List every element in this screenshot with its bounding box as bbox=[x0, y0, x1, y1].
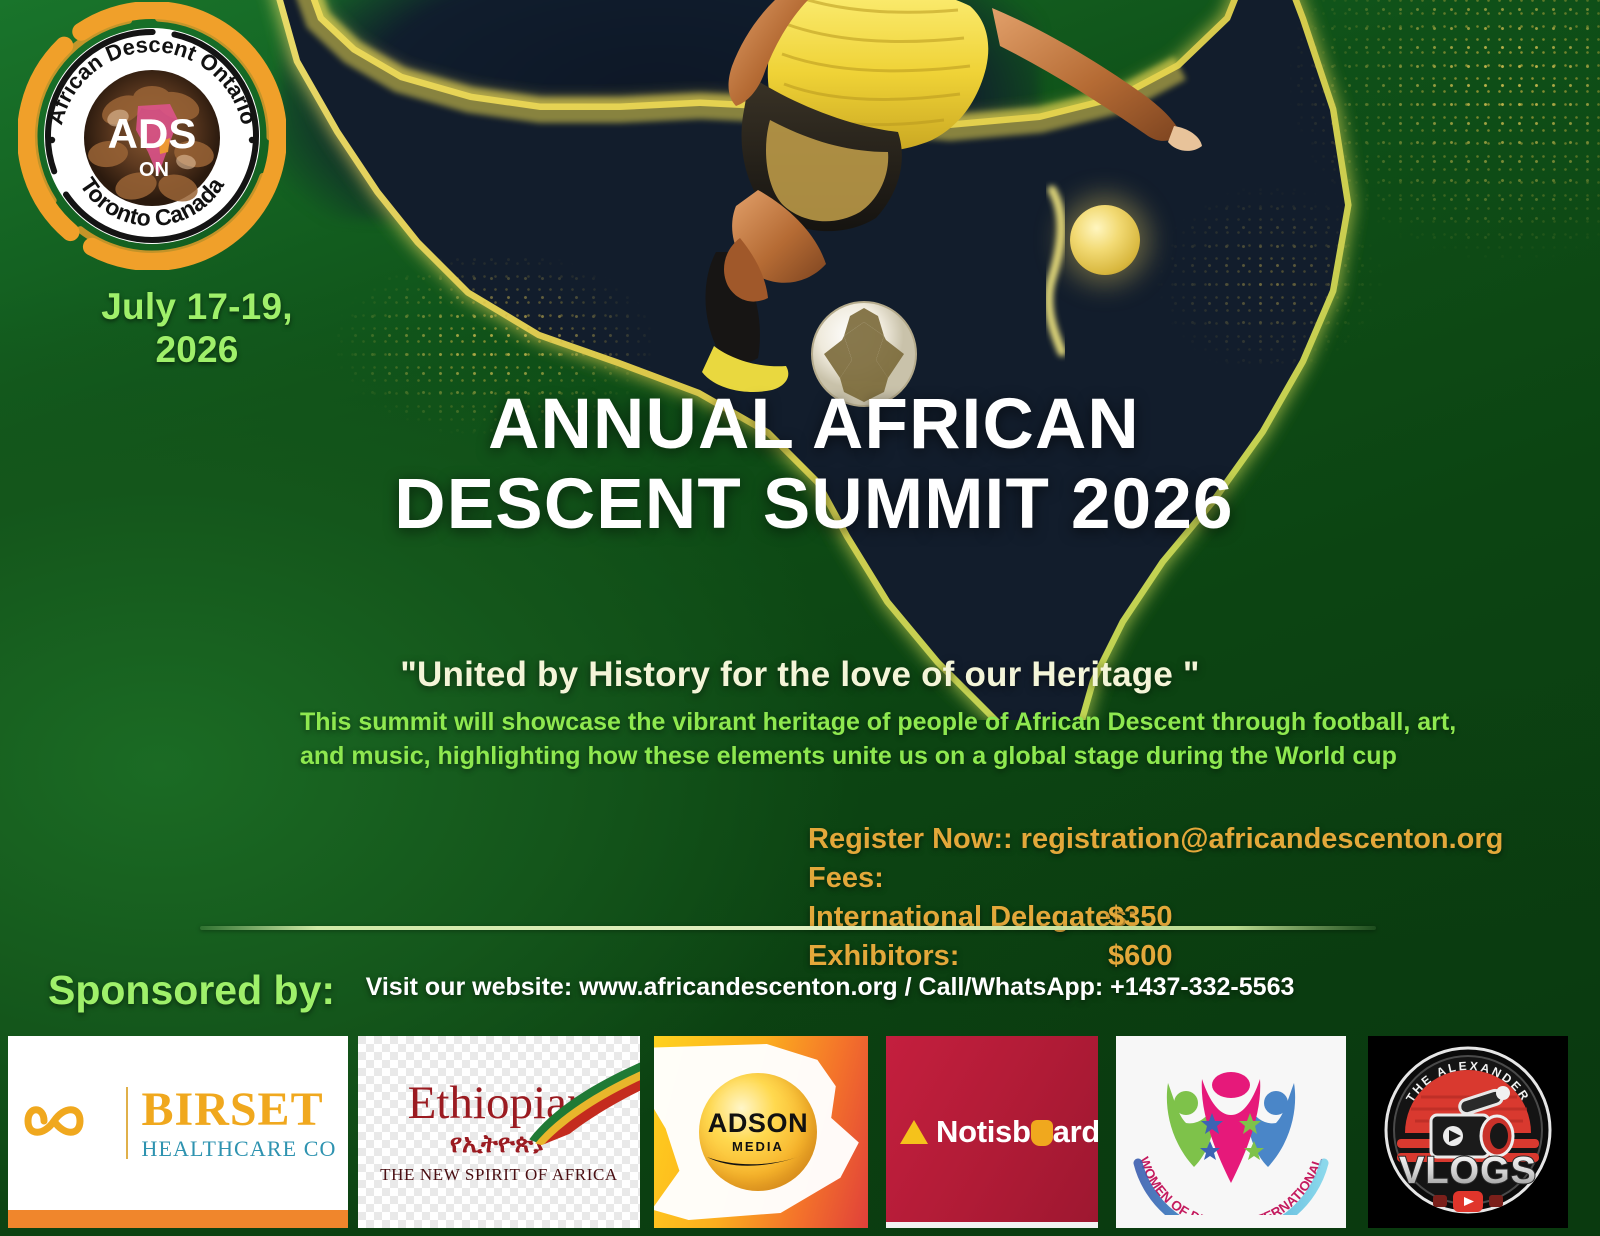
adson-name: ADSON bbox=[708, 1110, 809, 1137]
event-date-line-1: July 17-19, bbox=[82, 286, 312, 329]
adson-swoosh-icon bbox=[707, 1153, 807, 1169]
fee-value-exhibitors: $600 bbox=[1108, 937, 1173, 976]
event-date: July 17-19, 2026 bbox=[82, 286, 312, 372]
video-camera-badge-icon: VLOGS THE ALEXANDER bbox=[1375, 1037, 1561, 1228]
organization-logo[interactable]: ADS ON African Descent Ontario Toronto C… bbox=[18, 2, 286, 270]
sponsor-logo-adson-media[interactable]: ADSON MEDIA bbox=[654, 1036, 868, 1228]
logo-initials-sub: ON bbox=[139, 159, 169, 181]
fee-row-international: International Delegates: $350 bbox=[808, 898, 1503, 937]
sponsor-logo-birset[interactable]: BIRSET HEALTHCARE CO bbox=[8, 1036, 348, 1228]
birset-name: BIRSET bbox=[142, 1086, 337, 1134]
footballer-illustration bbox=[640, 0, 1280, 400]
notisboard-name-head: Notisb bbox=[936, 1114, 1031, 1149]
fees-label: Fees: bbox=[808, 859, 1503, 898]
warning-triangle-icon bbox=[900, 1120, 928, 1144]
fee-label-exhibitors: Exhibitors: bbox=[808, 937, 1108, 976]
infinity-icon bbox=[20, 1090, 112, 1157]
notisboard-o-icon bbox=[1031, 1120, 1053, 1146]
fee-value-international: $350 bbox=[1108, 898, 1173, 937]
poster-root: ADS ON African Descent Ontario Toronto C… bbox=[0, 0, 1600, 1236]
description-line-2: and music, highlighting how these elemen… bbox=[300, 739, 1300, 773]
ethiopian-tagline: THE NEW SPIRIT OF AFRICA bbox=[380, 1165, 618, 1185]
event-description: This summit will showcase the vibrant he… bbox=[300, 705, 1300, 773]
vlogs-wordmark: VLOGS bbox=[1399, 1150, 1537, 1192]
notisboard-name-tail: ard.com bbox=[1053, 1114, 1098, 1149]
birset-divider bbox=[126, 1087, 128, 1159]
sponsor-logo-alexander-vlogs[interactable]: VLOGS THE ALEXANDER bbox=[1368, 1036, 1568, 1228]
event-tagline: "United by History for the love of our H… bbox=[0, 655, 1600, 695]
sponsor-logo-strip: BIRSET HEALTHCARE CO Ethiopian የኢትዮጵያ TH… bbox=[0, 1036, 1600, 1236]
notisboard-bottom-bar bbox=[886, 1222, 1098, 1228]
registration-info: Register Now:: registration@africandesce… bbox=[808, 820, 1503, 977]
notisboard-name: Notisbard.com bbox=[936, 1114, 1098, 1150]
birset-subtitle: HEALTHCARE CO bbox=[142, 1138, 337, 1160]
sponsor-logo-ethiopian[interactable]: Ethiopian የኢትዮጵያ THE NEW SPIRIT OF AFRIC… bbox=[358, 1036, 640, 1228]
logo-initials: ADS bbox=[108, 110, 197, 157]
sponsors-heading: Sponsored by: bbox=[48, 967, 335, 1014]
three-figures-icon: WOMEN OF DIGNITY INTERNATIONAL bbox=[1124, 1045, 1338, 1220]
description-line-1: This summit will showcase the vibrant he… bbox=[300, 705, 1300, 739]
sponsor-logo-notisboard[interactable]: Notisbard.com bbox=[886, 1036, 1098, 1228]
title-line-2: DESCENT SUMMIT 2026 bbox=[0, 465, 1600, 545]
fee-row-exhibitors: Exhibitors: $600 bbox=[808, 937, 1503, 976]
birset-bottom-bar bbox=[8, 1210, 348, 1228]
event-date-line-2: 2026 bbox=[82, 329, 312, 372]
fee-label-international: International Delegates: bbox=[808, 898, 1108, 937]
sponsor-logo-women-of-dignity[interactable]: WOMEN OF DIGNITY INTERNATIONAL bbox=[1116, 1036, 1346, 1228]
glowing-gold-ball-icon bbox=[1070, 205, 1140, 275]
register-now-line[interactable]: Register Now:: registration@africandesce… bbox=[808, 820, 1503, 859]
horizontal-divider bbox=[200, 926, 1376, 930]
page-title: ANNUAL AFRICAN DESCENT SUMMIT 2026 bbox=[0, 385, 1600, 545]
title-line-1: ANNUAL AFRICAN bbox=[0, 385, 1600, 465]
adson-subtitle: MEDIA bbox=[732, 1139, 784, 1154]
